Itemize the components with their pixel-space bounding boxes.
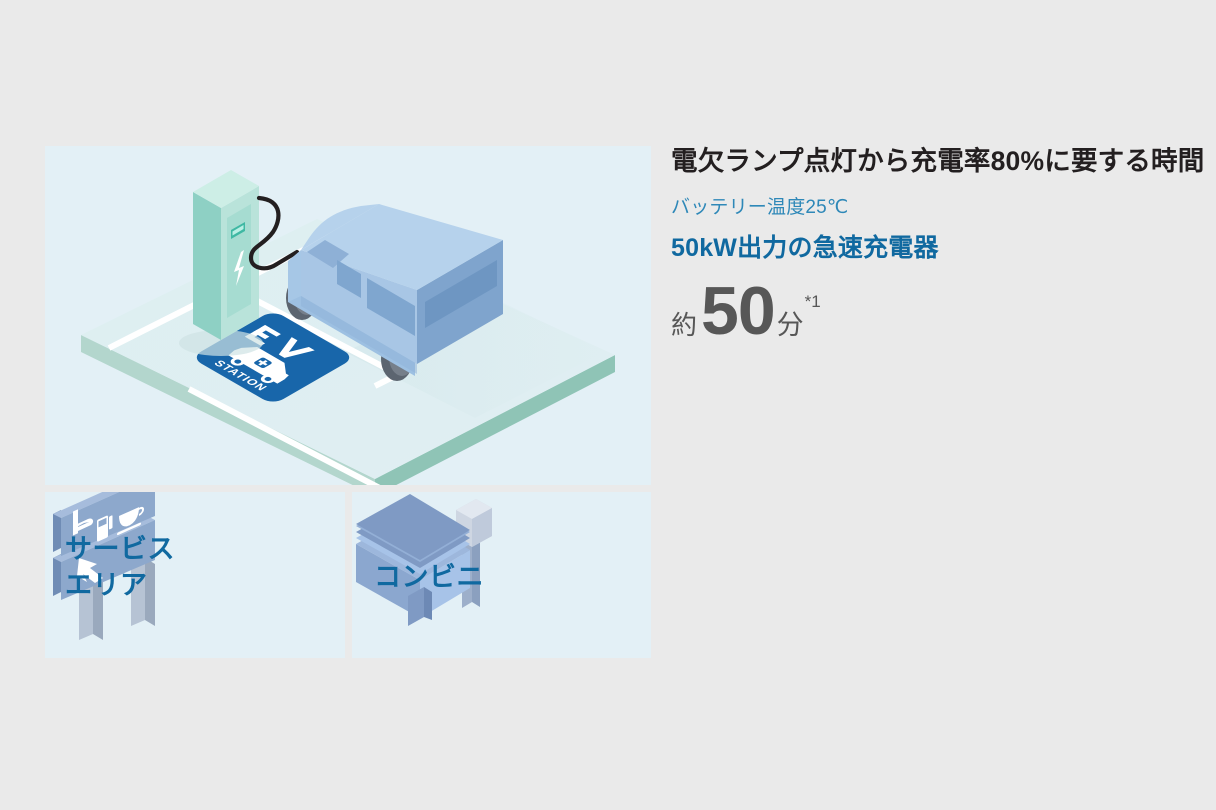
- duration-footnote-marker: *1: [805, 293, 821, 310]
- infographic-root: STATION: [0, 0, 1216, 810]
- duration-approx-prefix: 約: [671, 312, 697, 338]
- hero-illustration-panel: STATION: [45, 146, 651, 485]
- duration-value: 50: [701, 279, 775, 344]
- service-area-label: サービス エリア: [65, 532, 175, 603]
- duration-unit: 分: [777, 312, 804, 339]
- charging-duration: 約 50 分 *1: [671, 279, 1191, 344]
- charger-spec-label: 50kW出力の急速充電器: [671, 233, 1191, 263]
- service-area-panel: サービス エリア: [45, 492, 345, 658]
- charging-info-text-column: 電欠ランプ点灯から充電率80%に要する時間 バッテリー温度25℃ 50kW出力の…: [671, 146, 1191, 343]
- battery-temperature-note: バッテリー温度25℃: [671, 197, 1191, 220]
- ev-charging-station-illustration: STATION: [45, 146, 651, 485]
- page-title: 電欠ランプ点灯から充電率80%に要する時間: [671, 146, 1191, 178]
- convenience-store-label: コンビニ: [374, 560, 484, 596]
- convenience-store-panel: コンビニ: [352, 492, 651, 658]
